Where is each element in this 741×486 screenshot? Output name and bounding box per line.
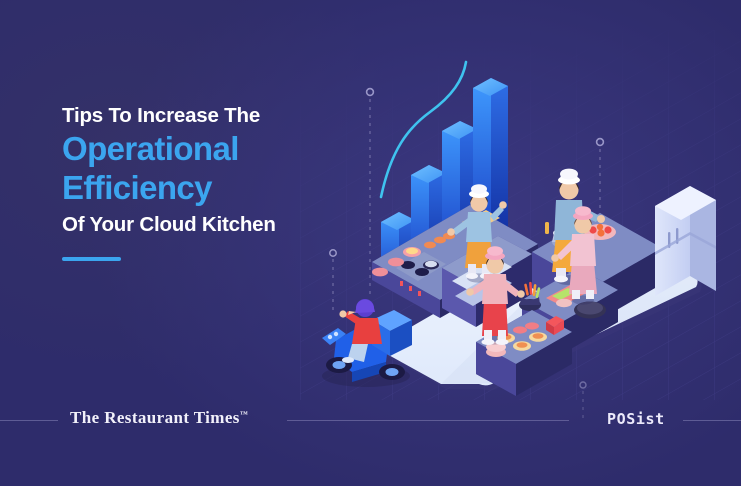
chef-figure-center [552, 169, 605, 285]
footer-divider-right [683, 420, 741, 421]
background-isometric-grid [300, 30, 741, 400]
chart-bar-4 [473, 78, 508, 243]
footer-divider-middle [287, 420, 569, 421]
brand-posist-logo[interactable]: POSist [607, 410, 665, 428]
poster-canvas: Tips To Increase The Operational Efficie… [0, 0, 741, 486]
delivery-scooter [322, 299, 412, 387]
location-pin-marker-right [597, 139, 604, 245]
chart-bar-2 [411, 165, 446, 271]
kitchen-oven [442, 236, 532, 327]
kitchen-counter-left [372, 205, 538, 318]
headline-line-3: Efficiency [62, 168, 362, 207]
footer-divider-left [0, 420, 58, 421]
location-pin-marker-left [367, 89, 374, 296]
footer-bar: The Restaurant Times™ POSist [0, 404, 741, 436]
brand-the-restaurant-times[interactable]: The Restaurant Times™ [70, 408, 248, 428]
chef-figure-left [447, 184, 507, 282]
kitchen-floor-platform [384, 222, 702, 390]
headline-block: Tips To Increase The Operational Efficie… [62, 103, 362, 238]
headline-underline-rule [62, 257, 121, 261]
headline-line-4: Of Your Cloud Kitchen [62, 212, 362, 238]
trademark-mark: ™ [240, 409, 248, 418]
chart-bar-1 [381, 212, 415, 284]
kitchen-island-front [476, 310, 572, 396]
growth-curve-line [381, 62, 466, 197]
chef-figure-pink-right [551, 206, 597, 304]
location-pin-marker-bottom [330, 250, 336, 312]
kitchen-counter-right [532, 213, 662, 323]
headline-line-2: Operational [62, 129, 362, 168]
chef-figure-front [466, 246, 525, 345]
chart-bar-3 [442, 121, 477, 258]
kitchen-island-middle [519, 268, 618, 354]
headline-line-1: Tips To Increase The [62, 103, 362, 129]
brand-left-text: The Restaurant Times [70, 408, 240, 427]
refrigerator [655, 186, 716, 296]
